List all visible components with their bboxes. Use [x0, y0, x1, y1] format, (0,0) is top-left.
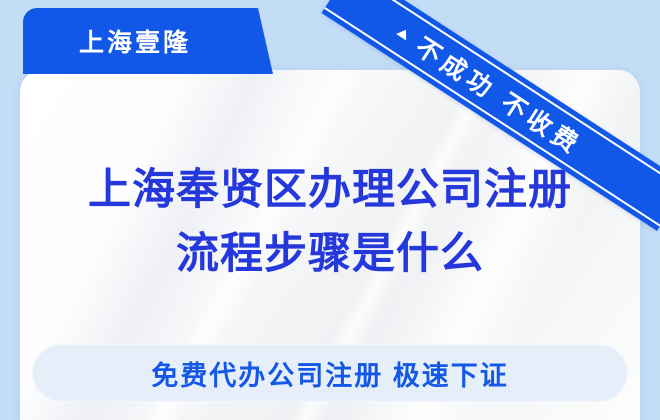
triangle-up-icon: [396, 26, 411, 40]
cta-pill[interactable]: 免费代办公司注册 极速下证: [32, 344, 628, 402]
cta-pill-label: 免费代办公司注册 极速下证: [151, 354, 509, 393]
headline-line-2: 流程步骤是什么: [0, 222, 660, 286]
brand-tab-label: 上海壹隆: [23, 23, 247, 59]
brand-tab: 上海壹隆: [23, 8, 273, 74]
page-title: 上海奉贤区办理公司注册 流程步骤是什么: [0, 158, 660, 286]
promo-poster: 上海壹隆 不成功 不收费 上海奉贤区办理公司注册 流程步骤是什么 免费代办公司注…: [0, 0, 660, 420]
